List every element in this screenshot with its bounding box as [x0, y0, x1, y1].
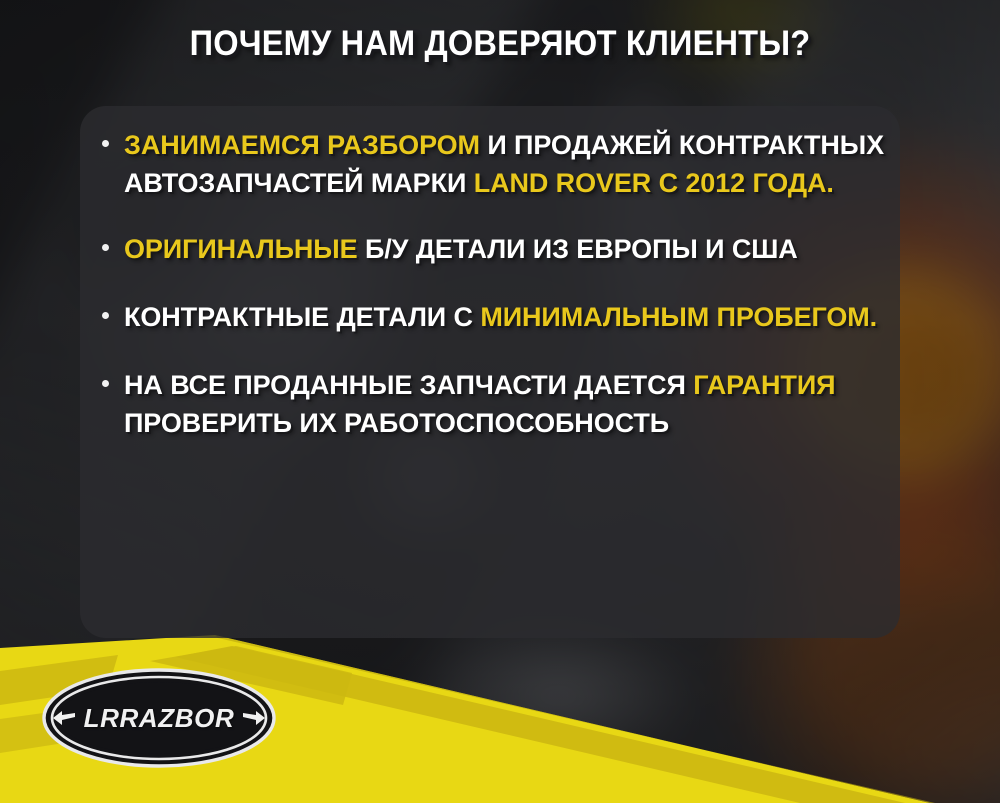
body-text: КОНТРАКТНЫЕ ДЕТАЛИ С	[124, 302, 480, 332]
list-item-text: ЗАНИМАЕМСЯ РАЗБОРОМ И ПРОДАЖЕЙ КОНТРАКТН…	[124, 126, 888, 202]
logo-badge[interactable]: LRRAZBOR	[42, 668, 276, 768]
list-item: ЗАНИМАЕМСЯ РАЗБОРОМ И ПРОДАЖЕЙ КОНТРАКТН…	[98, 126, 888, 202]
bullet-dot-icon	[102, 380, 109, 387]
highlight-text: МИНИМАЛЬНЫМ ПРОБЕГОМ.	[480, 302, 877, 332]
list-item: КОНТРАКТНЫЕ ДЕТАЛИ С МИНИМАЛЬНЫМ ПРОБЕГО…	[98, 298, 888, 336]
highlight-text: ОРИГИНАЛЬНЫЕ	[124, 234, 358, 264]
body-text: НА ВСЕ ПРОДАННЫЕ ЗАПЧАСТИ ДАЕТСЯ	[124, 370, 693, 400]
list-item: НА ВСЕ ПРОДАННЫЕ ЗАПЧАСТИ ДАЕТСЯ ГАРАНТИ…	[98, 366, 888, 442]
body-text: Б/У ДЕТАЛИ ИЗ ЕВРОПЫ И США	[358, 234, 798, 264]
highlight-text: ГАРАНТИЯ	[693, 370, 835, 400]
list-item: ОРИГИНАЛЬНЫЕ Б/У ДЕТАЛИ ИЗ ЕВРОПЫ И США	[98, 230, 888, 268]
list-item-text: ОРИГИНАЛЬНЫЕ Б/У ДЕТАЛИ ИЗ ЕВРОПЫ И США	[124, 230, 888, 268]
bullet-dot-icon	[102, 244, 109, 251]
list-item-text: НА ВСЕ ПРОДАННЫЕ ЗАПЧАСТИ ДАЕТСЯ ГАРАНТИ…	[124, 366, 888, 442]
highlight-text: ЗАНИМАЕМСЯ РАЗБОРОМ	[124, 130, 480, 160]
body-text: ПРОВЕРИТЬ ИХ РАБОТОСПОСОБНОСТЬ	[124, 408, 669, 438]
promo-banner: ПОЧЕМУ НАМ ДОВЕРЯЮТ КЛИЕНТЫ? ЗАНИМАЕМСЯ …	[0, 0, 1000, 803]
bullet-dot-icon	[102, 140, 109, 147]
logo-oval	[42, 668, 276, 768]
highlight-text: LAND ROVER С 2012 ГОДА.	[474, 168, 834, 198]
page-title: ПОЧЕМУ НАМ ДОВЕРЯЮТ КЛИЕНТЫ?	[35, 24, 965, 64]
list-item-text: КОНТРАКТНЫЕ ДЕТАЛИ С МИНИМАЛЬНЫМ ПРОБЕГО…	[124, 298, 888, 336]
benefits-list: ЗАНИМАЕМСЯ РАЗБОРОМ И ПРОДАЖЕЙ КОНТРАКТН…	[98, 126, 888, 442]
bullet-dot-icon	[102, 312, 109, 319]
